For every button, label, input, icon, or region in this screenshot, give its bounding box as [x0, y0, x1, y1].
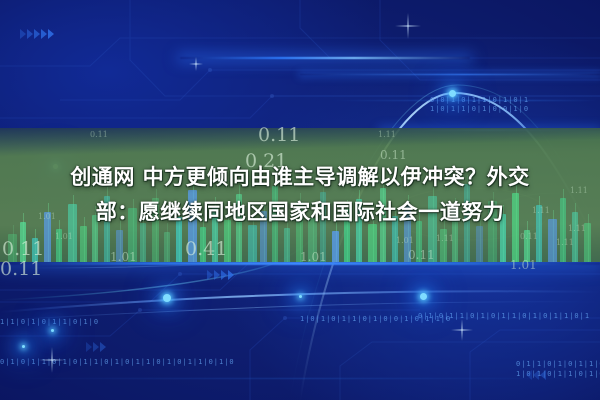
- glow-dot: [449, 90, 456, 97]
- light-streak: [180, 57, 470, 59]
- chart-number-label: 1.11: [436, 234, 454, 243]
- news-banner-image: 0|0|1|0|1|1|0|1|0|11|0|1|1|0|1|0|0|1|00|…: [0, 0, 600, 400]
- candle-body: [248, 225, 257, 262]
- headline-text: 创通网 中方更倾向由谁主导调解以伊冲突？外交 部：愿继续同地区国家和国际社会一道…: [0, 160, 600, 230]
- chart-number-label: 1.01: [110, 250, 137, 264]
- candle-body: [332, 231, 339, 262]
- sparkle-star: [451, 319, 473, 341]
- glow-dot: [420, 293, 427, 300]
- sparkle-star: [395, 13, 421, 39]
- chart-number-label: 1.01: [55, 232, 73, 241]
- glow-dot: [163, 294, 171, 302]
- chart-number-label: 0.11: [0, 258, 42, 280]
- candle-body: [164, 232, 170, 262]
- binary-digit-row: 0|1|0|1|1|0|1|0|1|1|0|1|0|1|1|0|1|0|1|1|…: [0, 358, 235, 366]
- chart-number-label: 1.01: [510, 258, 537, 272]
- chart-number-label: 1.11: [556, 238, 574, 247]
- glow-dot: [51, 329, 54, 332]
- candle-body: [80, 226, 87, 262]
- headline-line-2: 部：愿继续同地区国家和国际社会一道努力: [8, 195, 592, 230]
- glow-dot: [299, 295, 302, 298]
- chart-number-label: 1.01: [300, 250, 327, 264]
- candle-body: [476, 226, 483, 262]
- light-streak: [0, 378, 600, 379]
- headline-line-1: 创通网 中方更倾向由谁主导调解以伊冲突？外交: [8, 160, 592, 195]
- chart-number-label: 0.11: [408, 248, 435, 262]
- chart-number-label: 1.01: [396, 236, 414, 245]
- sparkle-star: [39, 347, 65, 373]
- chart-number-label: 0.11: [90, 130, 108, 139]
- chart-number-label: 1.11: [378, 130, 396, 139]
- chart-number-label: 0.11: [520, 232, 538, 241]
- binary-digit-row: 1|0|1|1|0|1|0|0|1|0: [430, 105, 529, 113]
- chart-number-label: 0.41: [185, 238, 227, 260]
- light-streak: [300, 74, 600, 75]
- chevron-arrow-icon: [207, 270, 234, 280]
- chevron-arrow-icon: [526, 370, 546, 380]
- binary-digit-row: 0|0|1|0|1|1|0|1|0|1: [430, 96, 529, 104]
- sparkle-star: [189, 57, 203, 71]
- candle-body: [284, 228, 290, 262]
- chevron-arrow-icon: [20, 29, 54, 39]
- chevron-arrow-icon: [86, 342, 106, 352]
- glow-dot: [22, 345, 25, 348]
- binary-digit-row: 0|1|1|0|1|0|1|1|0|1|0|1: [516, 360, 600, 368]
- binary-digit-row: 1|0|1|0|1|1|0|1|0|0|1|0|1|1|0: [300, 315, 451, 323]
- chart-number-label: 0.11: [2, 238, 44, 260]
- binary-digit-row: 1|1|0|1|0|1|1|0|1|0: [0, 318, 99, 326]
- chart-number-label: 0.11: [258, 124, 300, 146]
